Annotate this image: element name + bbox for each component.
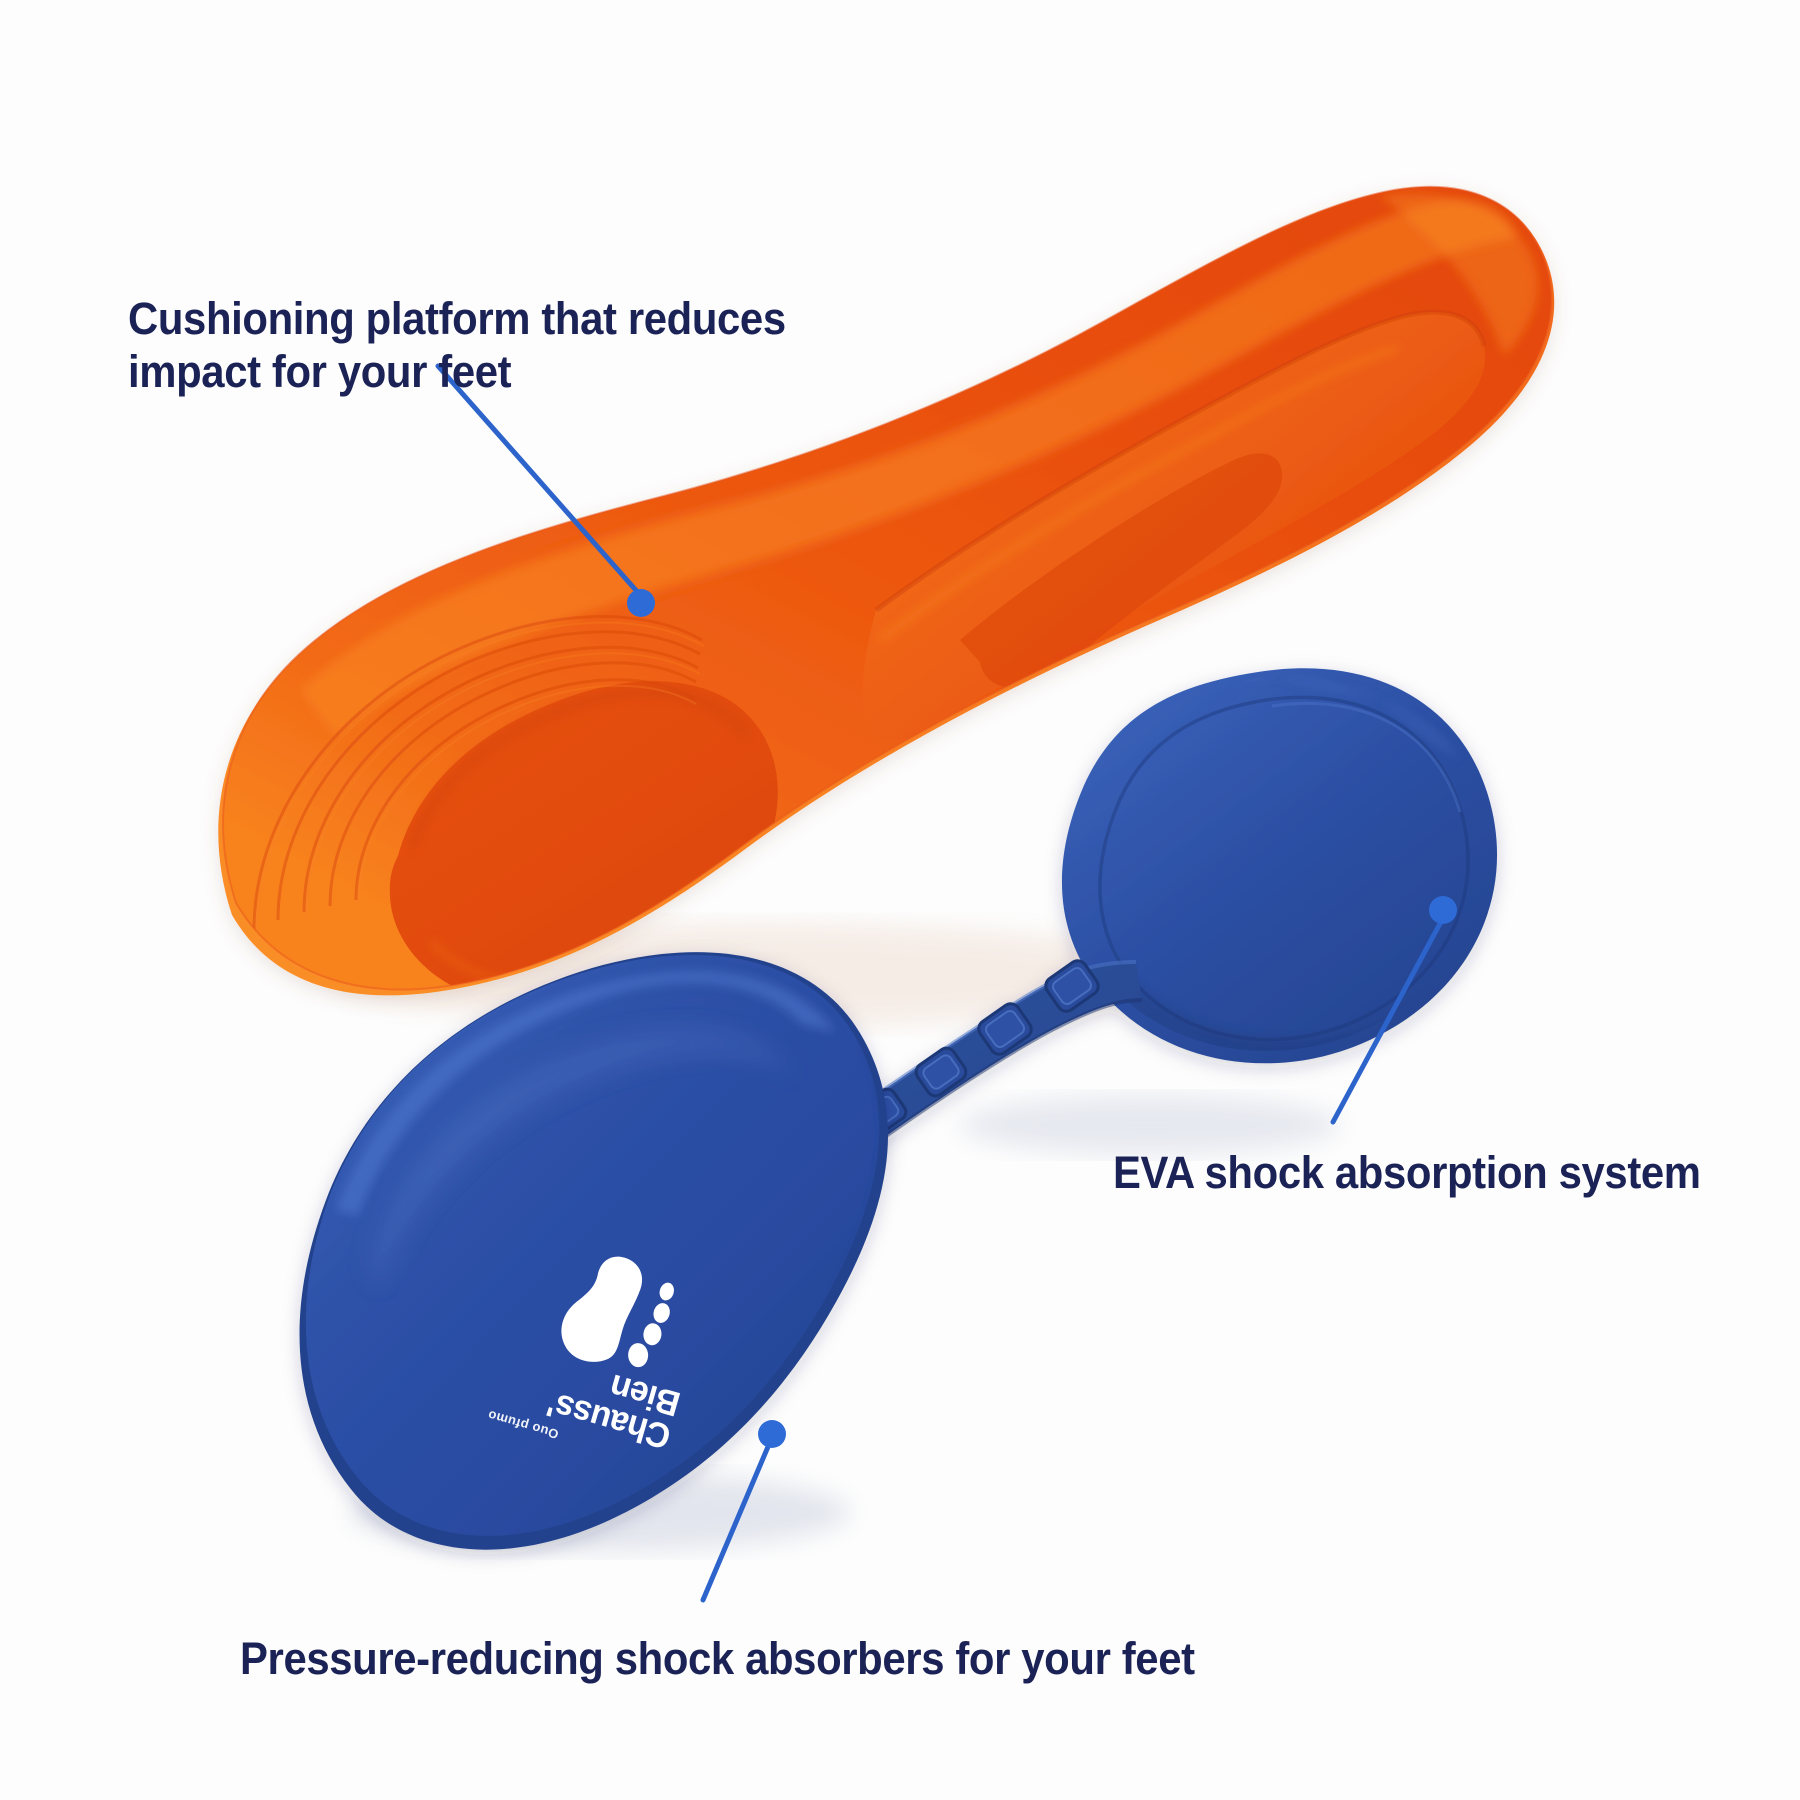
- eva-heel-pad: [1062, 668, 1497, 1063]
- brand-name: Chauss'Bien: [544, 1354, 684, 1453]
- callout-label-eva: EVA shock absorption system: [1113, 1146, 1783, 1199]
- callout-label-pressure: Pressure-reducing shock absorbers for yo…: [240, 1632, 1282, 1685]
- product-illustration: [0, 0, 1800, 1800]
- infographic-canvas: Chauss'Bien Ouo pfumo Cushioning platfor…: [0, 0, 1800, 1800]
- callout-label-cushioning: Cushioning platform that reduces impact …: [128, 292, 835, 398]
